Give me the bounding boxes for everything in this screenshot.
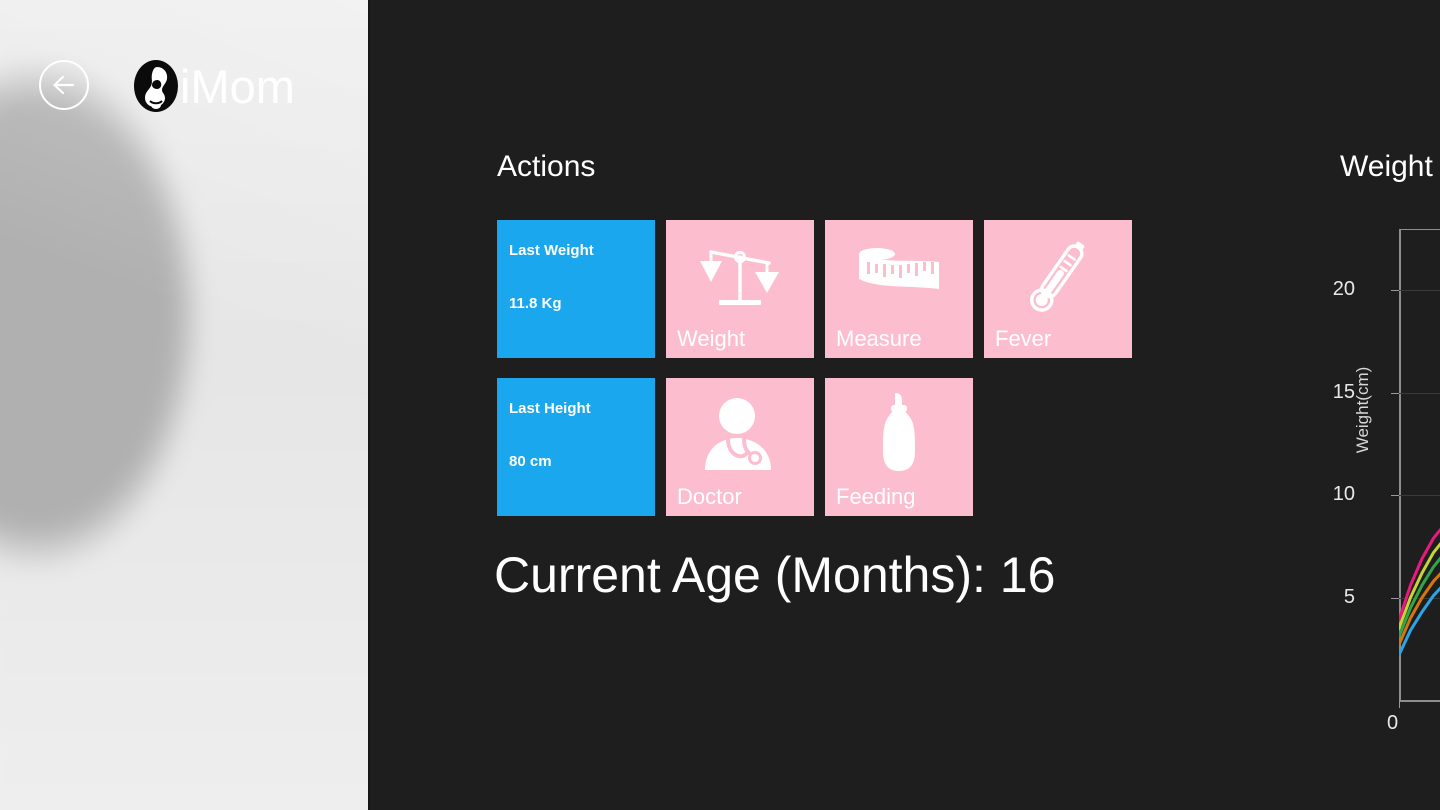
chart-y-axis-label: Weight(cm) bbox=[1353, 340, 1373, 480]
chart-x-tickmark bbox=[1399, 700, 1400, 708]
doctor-tile-caption: Doctor bbox=[677, 486, 742, 508]
chart-y-tickmark bbox=[1391, 290, 1399, 291]
doctor-glyph bbox=[697, 394, 783, 474]
chart-y-tick-label: 10 bbox=[1315, 484, 1355, 504]
last-weight-tile[interactable]: Last Weight 11.8 Kg bbox=[497, 220, 655, 358]
app-title: iMom bbox=[180, 63, 295, 110]
chart-x-axis bbox=[1399, 700, 1440, 702]
measure-tile-caption: Measure bbox=[836, 328, 922, 350]
weight-tile-caption: Weight bbox=[677, 328, 745, 350]
last-weight-label: Last Weight bbox=[509, 242, 594, 259]
doctor-stethoscope-icon bbox=[666, 390, 814, 478]
thermometer-icon bbox=[984, 232, 1132, 320]
chart-series-svg bbox=[1399, 229, 1440, 700]
chart-heading: Weight f bbox=[1340, 150, 1440, 184]
baby-bottle-glyph bbox=[869, 391, 929, 477]
app-root: iMom Actions Weight f Last Weight 11.8 K… bbox=[0, 0, 1440, 810]
chart-y-tick-label: 15 bbox=[1315, 382, 1355, 402]
feeding-action-tile[interactable]: Feeding bbox=[825, 378, 973, 516]
last-height-label: Last Height bbox=[509, 400, 591, 417]
feeding-tile-caption: Feeding bbox=[836, 486, 916, 508]
mother-and-child-icon bbox=[130, 57, 182, 115]
baby-bottle-icon bbox=[825, 390, 973, 478]
weight-action-tile[interactable]: Weight bbox=[666, 220, 814, 358]
app-logo: iMom bbox=[130, 54, 295, 118]
chart-x-tick-label: 0 bbox=[1387, 712, 1398, 735]
chart-y-tick-label: 5 bbox=[1315, 587, 1355, 607]
actions-heading: Actions bbox=[497, 150, 595, 184]
balance-scale-glyph bbox=[697, 236, 783, 316]
chart-y-tick-label: 20 bbox=[1315, 279, 1355, 299]
balance-scale-icon bbox=[666, 232, 814, 320]
weight-for-age-chart: Weight(cm) 5101520 0 bbox=[1325, 215, 1440, 735]
actions-tile-grid: Last Weight 11.8 Kg bbox=[497, 220, 1143, 516]
current-age-text: Current Age (Months): 16 bbox=[494, 545, 1055, 605]
measure-action-tile[interactable]: Measure bbox=[825, 220, 973, 358]
last-height-tile[interactable]: Last Height 80 cm bbox=[497, 378, 655, 516]
chart-y-tickmark bbox=[1391, 393, 1399, 394]
back-arrow-icon[interactable] bbox=[39, 60, 89, 110]
main-content: Actions Weight f Last Weight 11.8 Kg bbox=[370, 0, 1440, 810]
thermometer-glyph bbox=[1022, 233, 1094, 319]
fever-action-tile[interactable]: Fever bbox=[984, 220, 1132, 358]
fever-tile-caption: Fever bbox=[995, 328, 1051, 350]
measuring-tape-icon bbox=[825, 232, 973, 320]
chart-curves bbox=[1399, 229, 1440, 700]
chart-y-tickmark bbox=[1391, 598, 1399, 599]
tile-row: Last Height 80 cm Docto bbox=[497, 378, 1143, 516]
tile-row: Last Weight 11.8 Kg bbox=[497, 220, 1143, 358]
chart-series-line bbox=[1399, 524, 1440, 620]
doctor-action-tile[interactable]: Doctor bbox=[666, 378, 814, 516]
last-height-value: 80 cm bbox=[509, 453, 552, 470]
last-weight-value: 11.8 Kg bbox=[509, 295, 562, 312]
measuring-tape-glyph bbox=[857, 245, 941, 307]
back-arrow-glyph bbox=[51, 75, 77, 95]
chart-y-tickmark bbox=[1391, 495, 1399, 496]
